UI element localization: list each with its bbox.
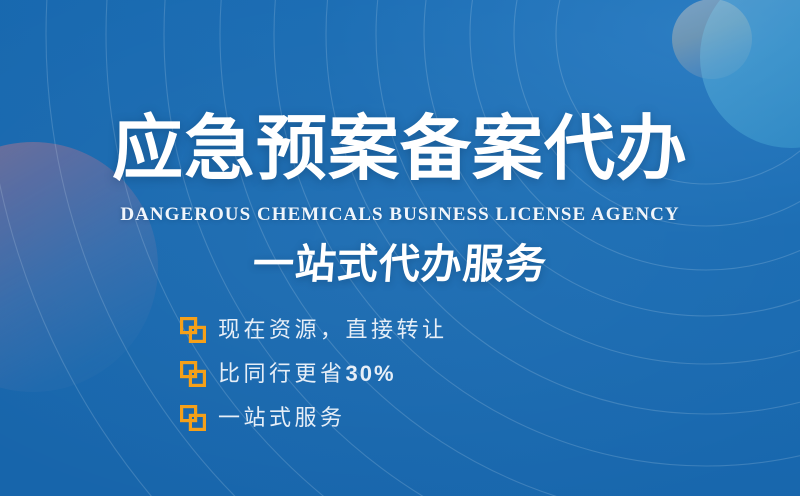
- feature-list: 现在资源，直接转让 比同行更省30% 一站式服务: [180, 316, 448, 431]
- double-square-icon: [180, 405, 206, 431]
- double-square-icon: [180, 361, 206, 387]
- list-item: 现在资源，直接转让: [180, 316, 448, 343]
- double-square-icon: [180, 317, 206, 343]
- list-item: 比同行更省30%: [180, 360, 448, 387]
- feature-label: 比同行更省30%: [218, 363, 396, 385]
- list-item: 一站式服务: [180, 404, 448, 431]
- feature-discount-value: 30%: [346, 361, 396, 386]
- subtitle-english: DANGEROUS CHEMICALS BUSINESS LICENSE AGE…: [0, 205, 800, 224]
- feature-label: 现在资源，直接转让: [218, 319, 448, 341]
- subtitle-chinese: 一站式代办服务: [0, 244, 800, 285]
- banner-content: 应急预案备案代办 DANGEROUS CHEMICALS BUSINESS LI…: [0, 0, 800, 496]
- promo-banner: 应急预案备案代办 DANGEROUS CHEMICALS BUSINESS LI…: [0, 0, 800, 496]
- page-title: 应急预案备案代办: [0, 114, 800, 185]
- feature-label: 一站式服务: [218, 407, 346, 429]
- feature-label-text: 比同行更省: [218, 361, 346, 386]
